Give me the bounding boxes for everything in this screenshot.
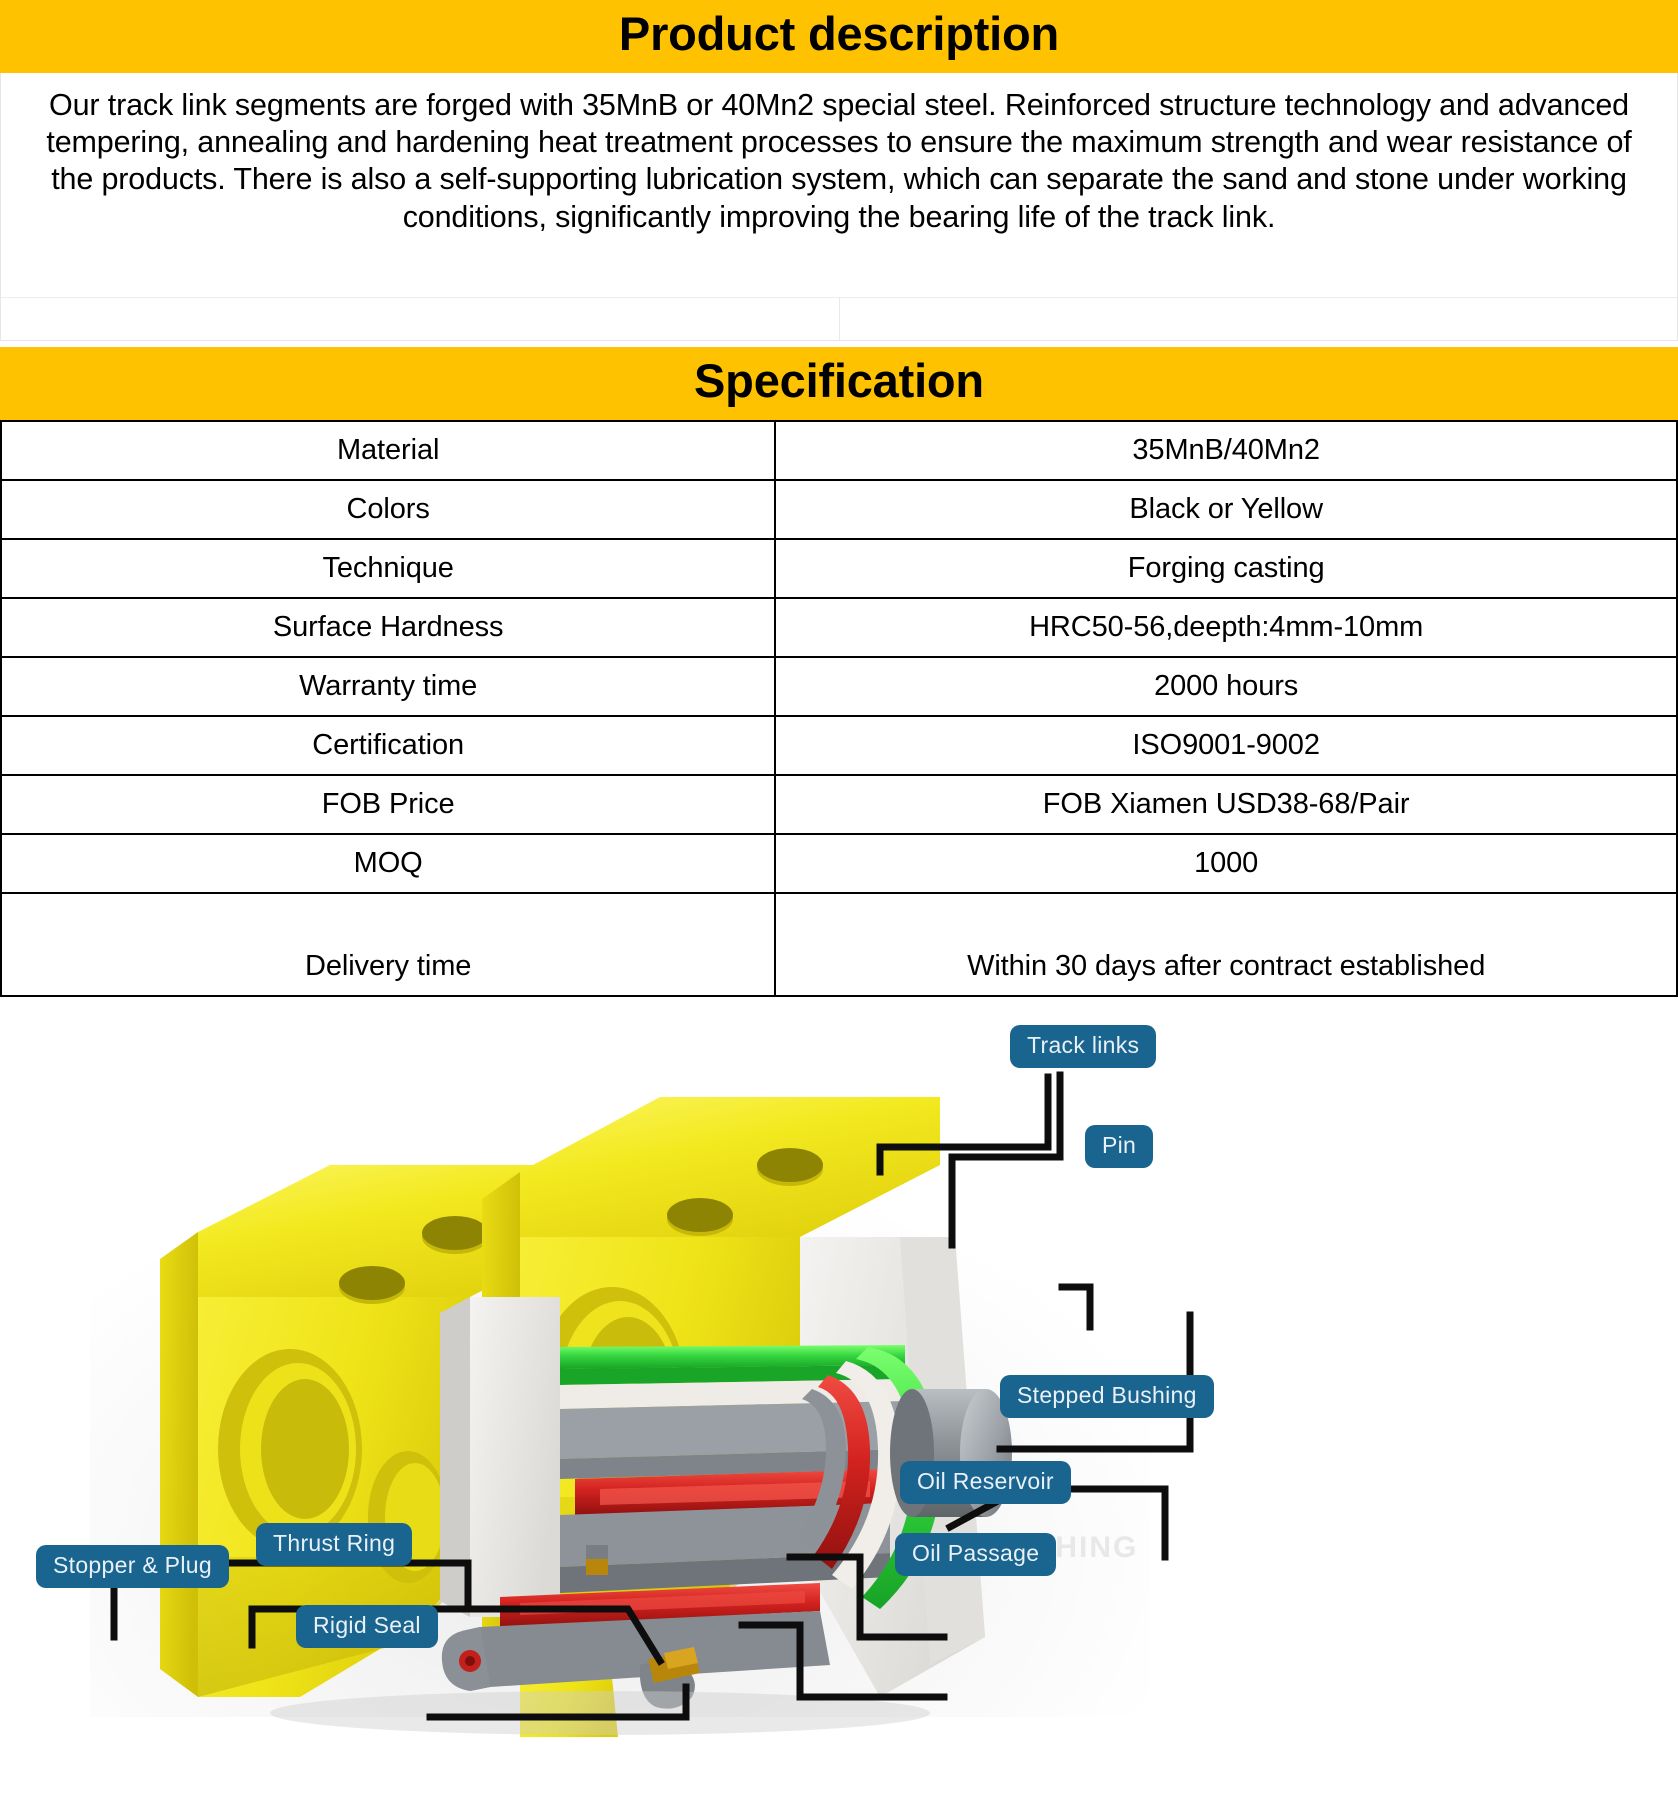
spec-value: Within 30 days after contract establishe… <box>775 893 1677 996</box>
spec-value: FOB Xiamen USD38-68/Pair <box>775 775 1677 834</box>
table-row: Warranty time 2000 hours <box>1 657 1677 716</box>
callout-rigid-seal[interactable]: Rigid Seal <box>296 1605 438 1648</box>
description-vertical-divider <box>839 297 840 341</box>
spec-label: Material <box>1 421 775 480</box>
table-row: Material 35MnB/40Mn2 <box>1 421 1677 480</box>
callout-track-links[interactable]: Track links <box>1010 1025 1156 1068</box>
spec-value: 2000 hours <box>775 657 1677 716</box>
table-row: Delivery time Within 30 days after contr… <box>1 893 1677 996</box>
callout-stepped-bushing[interactable]: Stepped Bushing <box>1000 1375 1214 1418</box>
spec-value: Black or Yellow <box>775 480 1677 539</box>
spec-value: ISO9001-9002 <box>775 716 1677 775</box>
specification-table-body: Material 35MnB/40Mn2 Colors Black or Yel… <box>1 421 1677 996</box>
callout-oil-reservoir[interactable]: Oil Reservoir <box>900 1461 1071 1504</box>
specification-table: Material 35MnB/40Mn2 Colors Black or Yel… <box>0 420 1678 997</box>
table-row: FOB Price FOB Xiamen USD38-68/Pair <box>1 775 1677 834</box>
specification-banner: Specification <box>0 347 1678 420</box>
callout-thrust-ring[interactable]: Thrust Ring <box>256 1523 412 1566</box>
spec-value: HRC50-56,deepth:4mm-10mm <box>775 598 1677 657</box>
diagram-canvas: BUSHING Track links Pin Stepped Bushing … <box>0 997 1678 1737</box>
spec-label: FOB Price <box>1 775 775 834</box>
table-row: Certification ISO9001-9002 <box>1 716 1677 775</box>
spec-label: Technique <box>1 539 775 598</box>
table-row: Colors Black or Yellow <box>1 480 1677 539</box>
spec-label: MOQ <box>1 834 775 893</box>
callout-oil-passage[interactable]: Oil Passage <box>895 1533 1056 1576</box>
product-description-text: Our track link segments are forged with … <box>1 73 1677 236</box>
spec-value: 35MnB/40Mn2 <box>775 421 1677 480</box>
callout-pin[interactable]: Pin <box>1085 1125 1153 1168</box>
product-page: Product description Our track link segme… <box>0 0 1678 1796</box>
specification-table-wrapper: Material 35MnB/40Mn2 Colors Black or Yel… <box>0 420 1678 997</box>
spec-label: Surface Hardness <box>1 598 775 657</box>
spec-value: Forging casting <box>775 539 1677 598</box>
table-row: MOQ 1000 <box>1 834 1677 893</box>
spec-value: 1000 <box>775 834 1677 893</box>
track-link-cutaway-illustration: BUSHING <box>0 997 1678 1737</box>
product-description-banner: Product description <box>0 0 1678 73</box>
spec-label: Delivery time <box>1 893 775 996</box>
product-description-body: Our track link segments are forged with … <box>0 73 1678 341</box>
track-link-assembly-diagram: BUSHING Track links Pin Stepped Bushing … <box>0 997 1678 1737</box>
table-row: Technique Forging casting <box>1 539 1677 598</box>
spec-label: Certification <box>1 716 775 775</box>
spec-label: Warranty time <box>1 657 775 716</box>
spec-label: Colors <box>1 480 775 539</box>
table-row: Surface Hardness HRC50-56,deepth:4mm-10m… <box>1 598 1677 657</box>
callout-stopper-and-plug[interactable]: Stopper & Plug <box>36 1545 229 1588</box>
